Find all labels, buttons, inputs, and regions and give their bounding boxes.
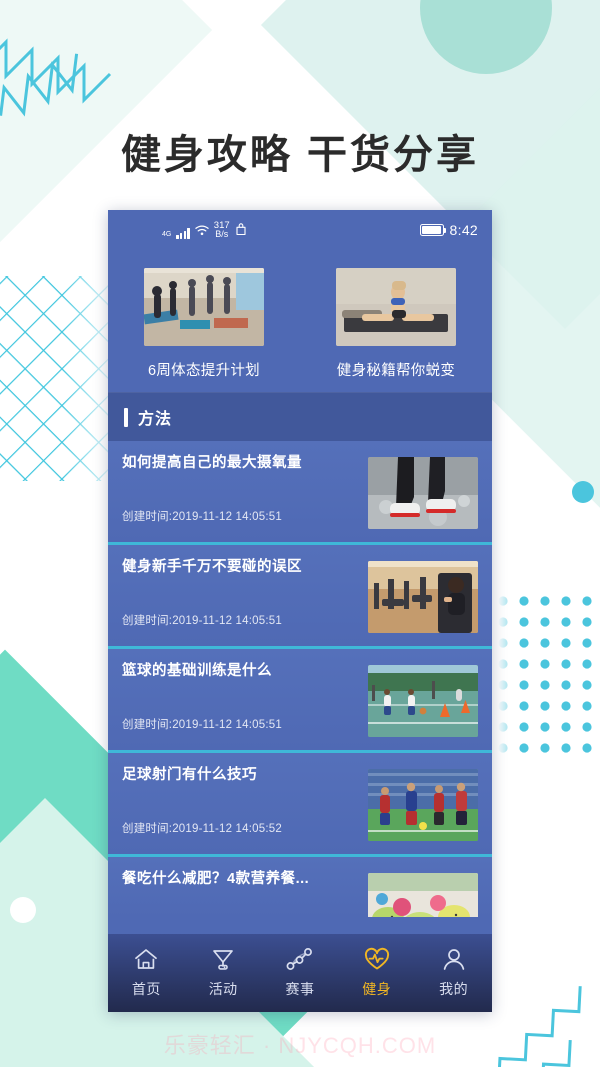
decor-zigzag-top-left	[0, 0, 164, 124]
group-yoga-class-photo	[144, 268, 264, 346]
decor-dot-grid-right	[498, 596, 598, 761]
tab-label: 活动	[209, 979, 238, 999]
gym-interior-machines-photo	[368, 561, 478, 633]
list-item-title: 足球射门有什么技巧	[122, 767, 368, 784]
list-item-title: 篮球的基础训练是什么	[122, 663, 368, 680]
fruit-salad-plate-photo	[368, 873, 478, 917]
trophy-icon	[210, 947, 236, 972]
running-shoes-on-wet-ground-photo	[368, 457, 478, 529]
status-bar-clock: 8:42	[450, 222, 478, 238]
feature-card[interactable]: 6周体态提升计划	[108, 268, 300, 380]
tab-home[interactable]: 首页	[108, 947, 185, 999]
tab-label: 健身	[362, 979, 391, 999]
decor-cyan-dot-right	[572, 481, 594, 503]
phone-mockup: 4G 317 B/s	[108, 210, 492, 1012]
decor-mint-circle-top-right	[420, 0, 552, 74]
watermark: 乐豪轻汇 · NJYCQH.COM	[0, 1028, 600, 1060]
battery-icon	[420, 224, 444, 236]
network-nodes-icon	[286, 947, 313, 972]
page-title: 健身攻略 干货分享	[0, 122, 600, 180]
wifi-icon	[195, 225, 209, 239]
list-item-title: 健身新手千万不要碰的误区	[122, 559, 368, 576]
list-item-text: 健身新手千万不要碰的误区 创建时间:2019-11-12 14:05:51	[122, 559, 368, 646]
network-speed-indicator: 317 B/s	[214, 221, 230, 240]
status-bar-right: 8:42	[420, 222, 478, 238]
list-item[interactable]: 篮球的基础训练是什么 创建时间:2019-11-12 14:05:51	[108, 649, 492, 753]
bag-icon	[235, 223, 247, 239]
section-title: 方法	[138, 405, 172, 429]
outdoor-court-drill-cones-photo	[368, 665, 478, 737]
home-icon	[133, 947, 159, 972]
list-item[interactable]: 如何提高自己的最大摄氧量 创建时间:2019-11-12 14:05:51	[108, 441, 492, 545]
list-item-text: 足球射门有什么技巧 创建时间:2019-11-12 14:05:52	[122, 767, 368, 854]
tab-fitness[interactable]: 健身	[338, 947, 415, 999]
list-item[interactable]: 健身新手千万不要碰的误区 创建时间:2019-11-12 14:05:51	[108, 545, 492, 649]
bottom-tab-bar: 首页 活动	[108, 934, 492, 1012]
tab-label: 首页	[132, 979, 161, 999]
person-icon	[441, 947, 467, 972]
tab-activity[interactable]: 活动	[185, 947, 262, 999]
section-accent-bar	[124, 408, 128, 427]
list-item-timestamp: 创建时间:2019-11-12 14:05:51	[122, 612, 368, 628]
list-item-title: 餐吃什么减肥？4款营养餐...	[122, 871, 368, 888]
feature-card-label: 6周体态提升计划	[148, 359, 260, 380]
decor-diagonal-grid-left	[0, 276, 120, 481]
list-item-timestamp: 创建时间:2019-11-12 14:05:51	[122, 716, 368, 732]
list-item-title: 如何提高自己的最大摄氧量	[122, 455, 368, 472]
list-item[interactable]: 足球射门有什么技巧 创建时间:2019-11-12 14:05:52	[108, 753, 492, 857]
soccer-match-players-photo	[368, 769, 478, 841]
status-bar: 4G 317 B/s	[108, 210, 492, 250]
feature-cards-row: 6周体态提升计划	[108, 250, 492, 392]
article-list: 如何提高自己的最大摄氧量 创建时间:2019-11-12 14:05:51	[108, 441, 492, 917]
tab-events[interactable]: 赛事	[262, 947, 339, 999]
signal-bars-icon	[176, 228, 189, 239]
feature-card[interactable]: 健身秘籍帮你蜕变	[300, 268, 492, 380]
list-item[interactable]: 餐吃什么减肥？4款营养餐...	[108, 857, 492, 917]
heartbeat-icon	[363, 947, 391, 972]
woman-splits-stretch-photo	[336, 268, 456, 346]
list-item-text: 如何提高自己的最大摄氧量 创建时间:2019-11-12 14:05:51	[122, 455, 368, 542]
status-bar-left: 4G 317 B/s	[162, 221, 247, 240]
list-item-timestamp: 创建时间:2019-11-12 14:05:52	[122, 820, 368, 836]
network-speed-unit: B/s	[214, 230, 230, 239]
list-item-text: 餐吃什么减肥？4款营养餐...	[122, 871, 368, 917]
feature-card-label: 健身秘籍帮你蜕变	[337, 359, 455, 380]
tab-label: 赛事	[285, 979, 314, 999]
network-type-label: 4G	[162, 231, 171, 238]
section-header: 方法	[108, 392, 492, 441]
list-item-timestamp: 创建时间:2019-11-12 14:05:51	[122, 508, 368, 524]
list-item-text: 篮球的基础训练是什么 创建时间:2019-11-12 14:05:51	[122, 663, 368, 750]
decor-white-circle-bottom-left	[10, 897, 36, 923]
tab-profile[interactable]: 我的	[415, 947, 492, 999]
tab-label: 我的	[439, 979, 468, 999]
screenshot-stage: 健身攻略 干货分享 4G 317 B/s	[0, 0, 600, 1067]
